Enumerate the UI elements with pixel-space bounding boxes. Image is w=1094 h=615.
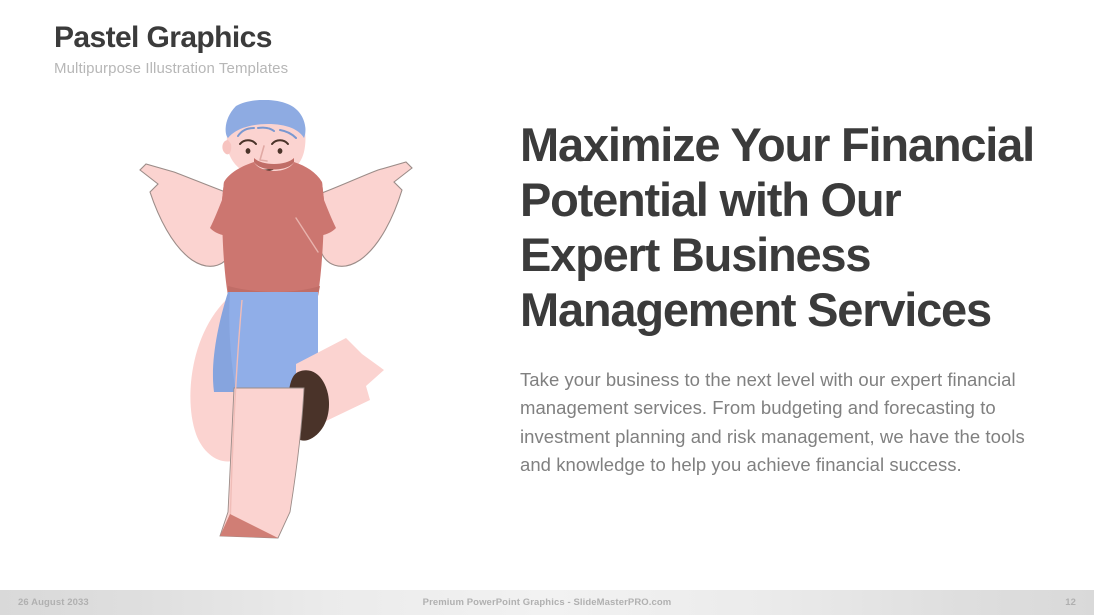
eye-left <box>246 148 251 154</box>
brand-subtitle: Multipurpose Illustration Templates <box>54 61 474 78</box>
body-paragraph: Take your business to the next level wit… <box>520 366 1028 479</box>
brand-header: Pastel Graphics Multipurpose Illustratio… <box>54 22 474 77</box>
footer-credit: Premium PowerPoint Graphics - SlideMaste… <box>0 597 1094 608</box>
content-column: Maximize Your Financial Potential with O… <box>520 118 1050 498</box>
eye-right <box>278 148 283 154</box>
illustration-standing-person <box>118 100 428 542</box>
footer-page-number: 12 <box>1065 597 1076 608</box>
slide-canvas: Pastel Graphics Multipurpose Illustratio… <box>0 0 1094 615</box>
headline: Maximize Your Financial Potential with O… <box>520 118 1050 338</box>
footer-bar: 26 August 2033 Premium PowerPoint Graphi… <box>0 590 1094 615</box>
shirt-torso <box>222 162 324 296</box>
brand-title: Pastel Graphics <box>54 22 474 54</box>
person-illustration-svg <box>118 100 428 542</box>
